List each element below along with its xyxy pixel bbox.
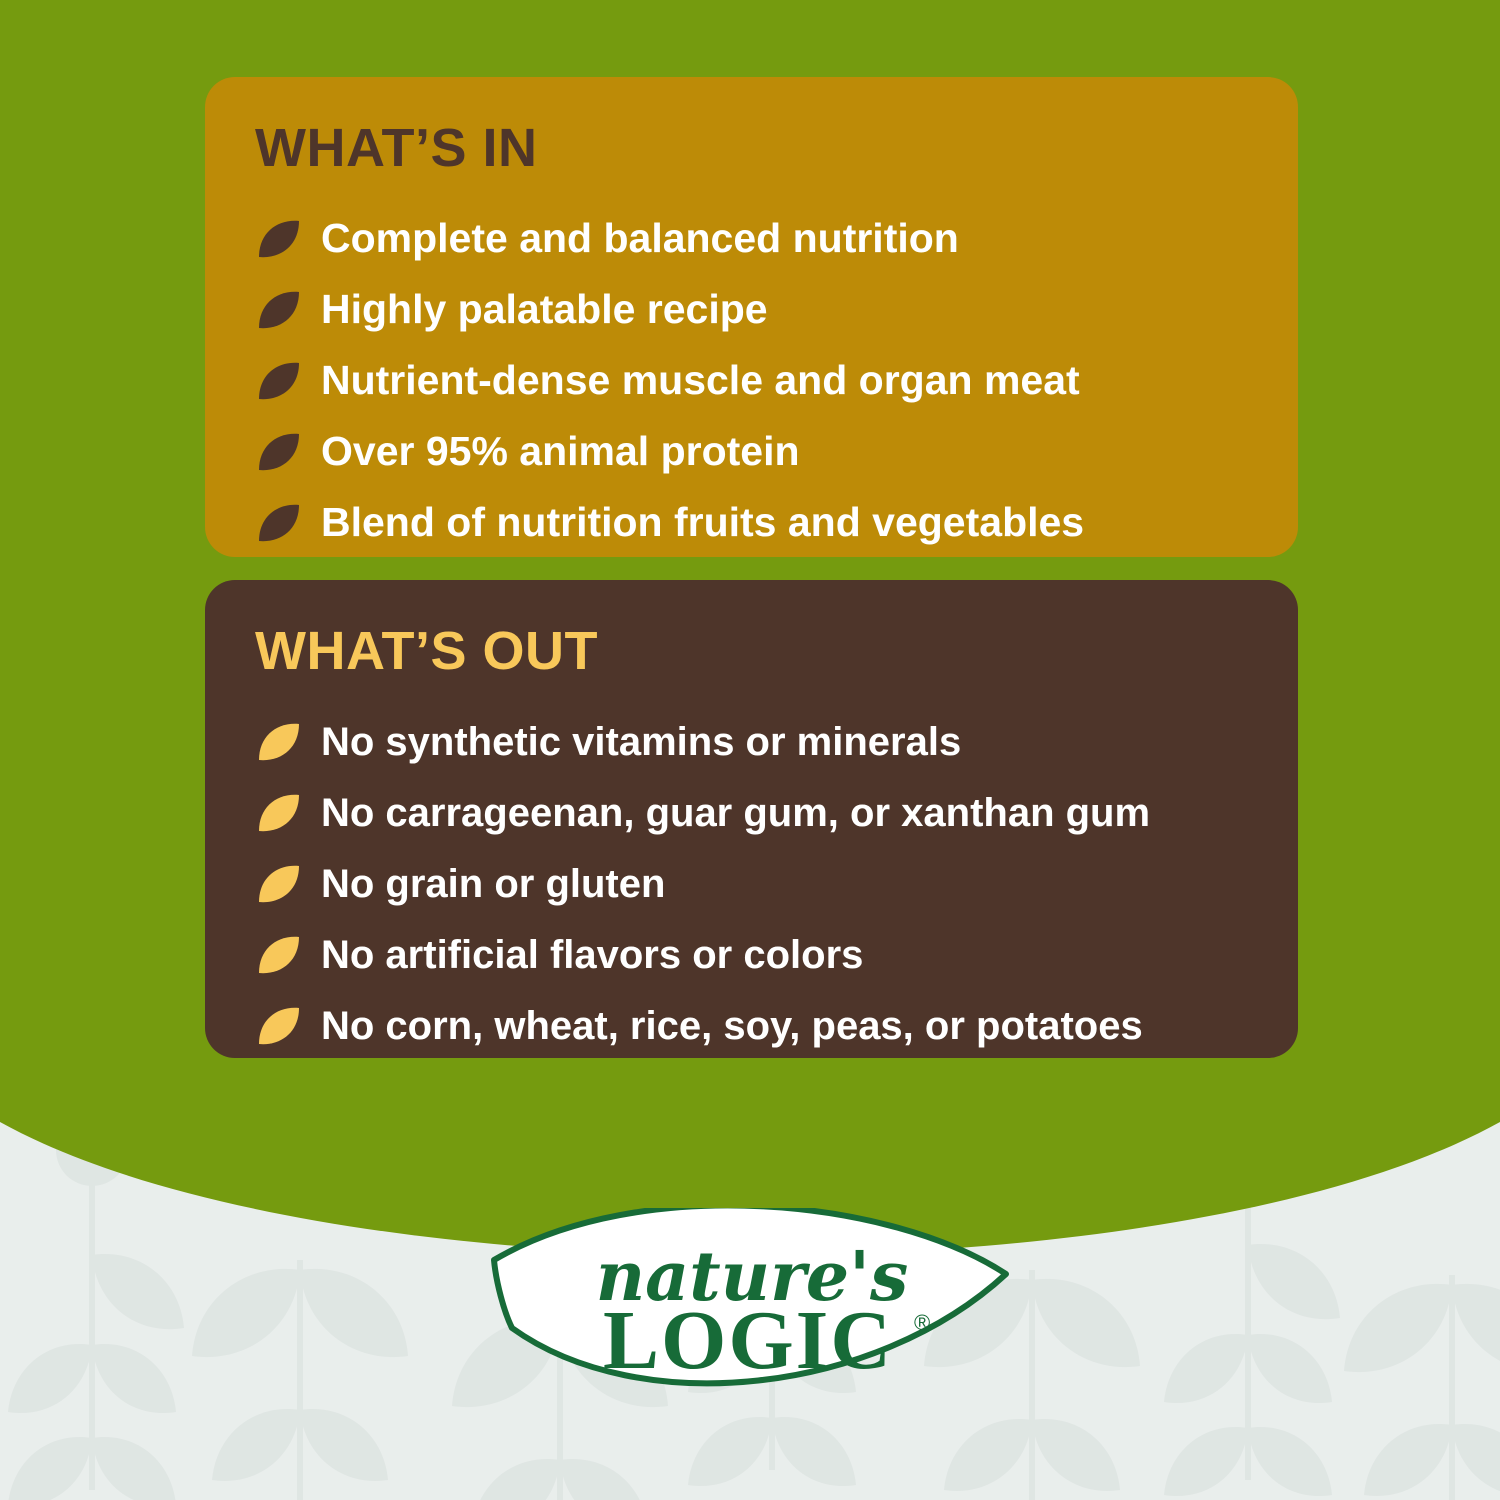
list-item-label: No artificial flavors or colors bbox=[321, 934, 863, 976]
list-item-label: Highly palatable recipe bbox=[321, 288, 768, 331]
registered-trademark-icon: ® bbox=[914, 1310, 930, 1335]
leaf-bullet-icon bbox=[255, 503, 301, 543]
whats-in-list: Complete and balanced nutrition Highly p… bbox=[255, 205, 1248, 556]
whats-out-card: WHAT’S OUT No synthetic vitamins or mine… bbox=[205, 580, 1298, 1058]
list-item: No carrageenan, guar gum, or xanthan gum bbox=[255, 779, 1248, 846]
whats-in-card: WHAT’S IN Complete and balanced nutritio… bbox=[205, 77, 1298, 557]
list-item: Nutrient-dense muscle and organ meat bbox=[255, 347, 1248, 414]
leaf-bullet-icon bbox=[255, 290, 301, 330]
list-item: Blend of nutrition fruits and vegetables bbox=[255, 489, 1248, 556]
list-item-label: No carrageenan, guar gum, or xanthan gum bbox=[321, 792, 1150, 834]
list-item-label: Over 95% animal protein bbox=[321, 430, 800, 473]
whats-out-list: No synthetic vitamins or minerals No car… bbox=[255, 708, 1248, 1059]
leaf-bullet-icon bbox=[255, 1006, 301, 1046]
list-item: No synthetic vitamins or minerals bbox=[255, 708, 1248, 775]
leaf-bullet-icon bbox=[255, 935, 301, 975]
logo-word-text: LOGIC bbox=[603, 1294, 893, 1387]
list-item: No grain or gluten bbox=[255, 850, 1248, 917]
list-item: No corn, wheat, rice, soy, peas, or pota… bbox=[255, 992, 1248, 1059]
leaf-bullet-icon bbox=[255, 864, 301, 904]
leaf-logo-icon: nature's LOGIC ® bbox=[490, 1208, 1010, 1430]
leaf-bullet-icon bbox=[255, 722, 301, 762]
list-item-label: No synthetic vitamins or minerals bbox=[321, 721, 961, 763]
infographic-canvas: WHAT’S IN Complete and balanced nutritio… bbox=[0, 0, 1500, 1500]
whats-in-title: WHAT’S IN bbox=[255, 121, 1248, 175]
leaf-bullet-icon bbox=[255, 219, 301, 259]
whats-out-title: WHAT’S OUT bbox=[255, 624, 1248, 678]
list-item: Highly palatable recipe bbox=[255, 276, 1248, 343]
brand-logo: nature's LOGIC ® bbox=[490, 1208, 1010, 1430]
leaf-bullet-icon bbox=[255, 361, 301, 401]
list-item-label: No corn, wheat, rice, soy, peas, or pota… bbox=[321, 1005, 1143, 1047]
list-item: No artificial flavors or colors bbox=[255, 921, 1248, 988]
leaf-bullet-icon bbox=[255, 432, 301, 472]
list-item-label: No grain or gluten bbox=[321, 863, 665, 905]
list-item-label: Blend of nutrition fruits and vegetables bbox=[321, 501, 1084, 544]
list-item: Complete and balanced nutrition bbox=[255, 205, 1248, 272]
list-item: Over 95% animal protein bbox=[255, 418, 1248, 485]
leaf-bullet-icon bbox=[255, 793, 301, 833]
list-item-label: Complete and balanced nutrition bbox=[321, 217, 959, 260]
list-item-label: Nutrient-dense muscle and organ meat bbox=[321, 359, 1080, 402]
